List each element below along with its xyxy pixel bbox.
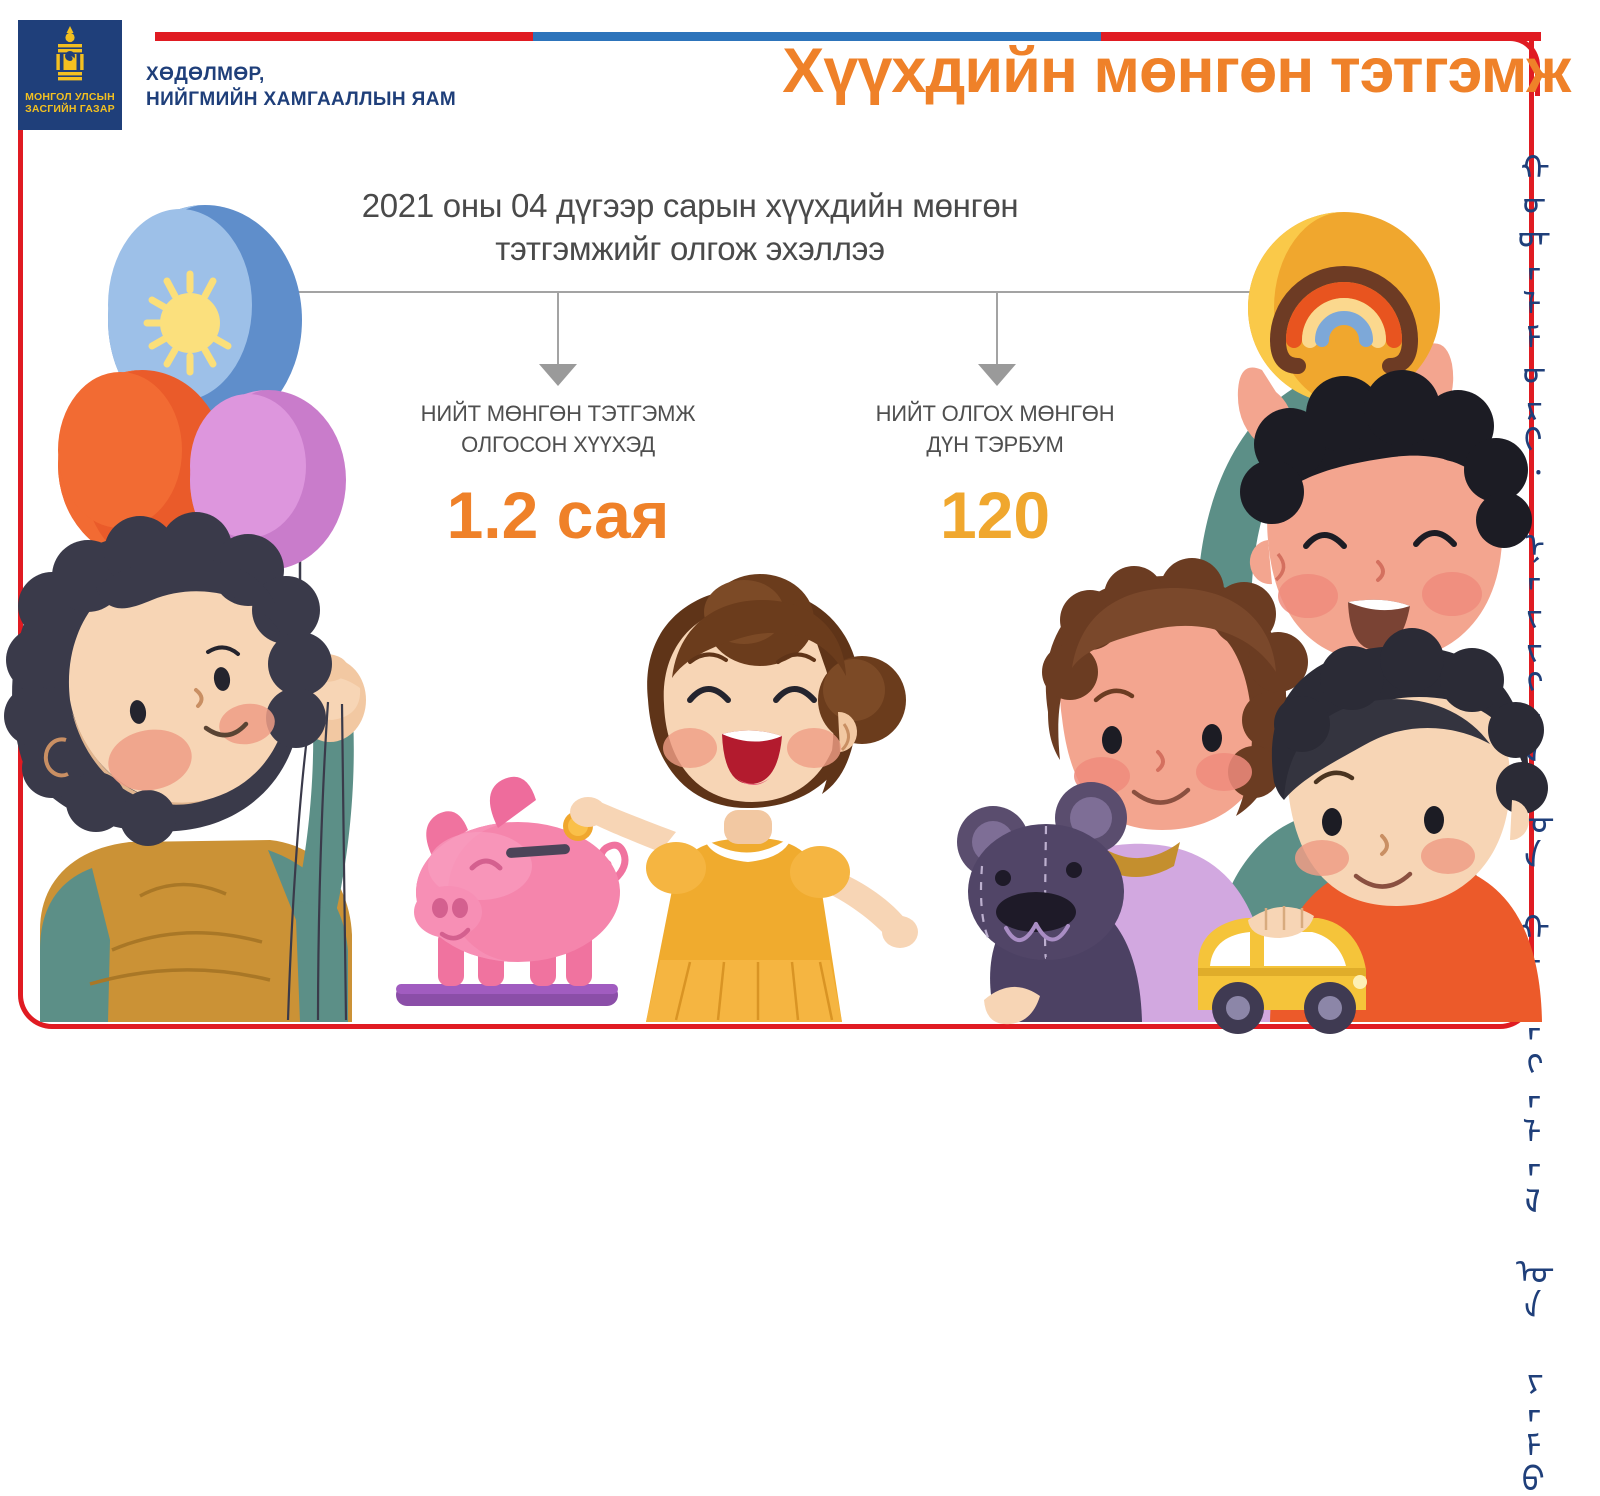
child-with-balloons-illustration bbox=[4, 512, 366, 1022]
logo-text: МОНГОЛ УЛСЫН ЗАСГИЙН ГАЗАР bbox=[25, 91, 115, 115]
page-frame-stub bbox=[18, 136, 23, 162]
soyombo-icon bbox=[53, 26, 87, 88]
logo-line-2: ЗАСГИЙН ГАЗАР bbox=[25, 103, 115, 115]
website-url-text: mlsp.gov.mn bbox=[1356, 968, 1504, 999]
website-link[interactable]: mlsp.gov.mn bbox=[1326, 968, 1504, 999]
connector-vertical-line-1 bbox=[557, 293, 559, 366]
stat-label: НИЙТ МӨНГӨН ТЭТГЭМЖ ОЛГОСОН ХҮҮХЭД bbox=[358, 398, 758, 460]
stat-value: 120 bbox=[800, 482, 1190, 548]
stat-label-line-1: НИЙТ ОЛГОХ МӨНГӨН bbox=[800, 398, 1190, 429]
stat-label-line-2: ОЛГОСОН ХҮҮХЭД bbox=[358, 429, 758, 460]
girl-with-teddy-bear-illustration bbox=[957, 558, 1308, 1024]
logo-line-1: МОНГОЛ УЛСЫН bbox=[25, 91, 115, 103]
stat-label-line-2: ДҮН ТЭРБУМ bbox=[800, 429, 1190, 460]
mongolian-vertical-script: ᠬᠥᠳᠡᠯᠮᠦᠷᠢ᠂ ᠨᠡᠢᠢᠭᠡᠮ ᠤᠨ ᠬᠠᠮᠠᠭᠠᠯᠠᠯ ᠤᠨ ᠶᠠᠮᠤ bbox=[1502, 150, 1594, 1000]
piggy-bank-illustration bbox=[396, 777, 625, 1006]
stat-block-total-amount: НИЙТ ОЛГОХ МӨНГӨН ДҮН ТЭРБУМ 120 bbox=[800, 398, 1190, 548]
connector-horizontal-line bbox=[272, 291, 1270, 293]
subtitle: 2021 оны 04 дүгээр сарын хүүхдийн мөнгөн… bbox=[300, 184, 1080, 270]
boy-with-rainbow-ball-illustration bbox=[1197, 212, 1532, 1022]
arrow-down-icon-1 bbox=[539, 364, 577, 386]
ministry-line-2: НИЙГМИЙН ХАМГААЛЛЫН ЯАМ bbox=[146, 87, 456, 112]
subtitle-line-2: тэтгэмжийг олгож эхэллээ bbox=[300, 227, 1080, 270]
page-title: Хүүхдийн мөнгөн тэтгэмж bbox=[782, 36, 1570, 106]
connector-vertical-line-2 bbox=[996, 293, 998, 366]
sun-icon bbox=[147, 274, 228, 372]
top-bar-red-left bbox=[155, 32, 535, 41]
stat-label-line-1: НИЙТ МӨНГӨН ТЭТГЭМЖ bbox=[358, 398, 758, 429]
chevron-right-icon bbox=[1326, 974, 1347, 994]
stat-value: 1.2 сая bbox=[358, 482, 758, 548]
teddy-bear-illustration bbox=[957, 782, 1142, 1024]
stat-block-children-paid: НИЙТ МӨНГӨН ТЭТГЭМЖ ОЛГОСОН ХҮҮХЭД 1.2 с… bbox=[358, 398, 758, 548]
stat-label: НИЙТ ОЛГОХ МӨНГӨН ДҮН ТЭРБУМ bbox=[800, 398, 1190, 460]
subtitle-line-1: 2021 оны 04 дүгээр сарын хүүхдийн мөнгөн bbox=[300, 184, 1080, 227]
ministry-line-1: ХӨДӨЛМӨР, bbox=[146, 62, 456, 87]
infographic-poster: МОНГОЛ УЛСЫН ЗАСГИЙН ГАЗАР ХӨДӨЛМӨР, НИЙ… bbox=[0, 0, 1600, 1047]
ministry-name: ХӨДӨЛМӨР, НИЙГМИЙН ХАМГААЛЛЫН ЯАМ bbox=[146, 62, 456, 112]
girl-yellow-dress-illustration bbox=[570, 574, 918, 1022]
arrow-down-icon-2 bbox=[978, 364, 1016, 386]
government-emblem-logo: МОНГОЛ УЛСЫН ЗАСГИЙН ГАЗАР bbox=[18, 20, 122, 130]
